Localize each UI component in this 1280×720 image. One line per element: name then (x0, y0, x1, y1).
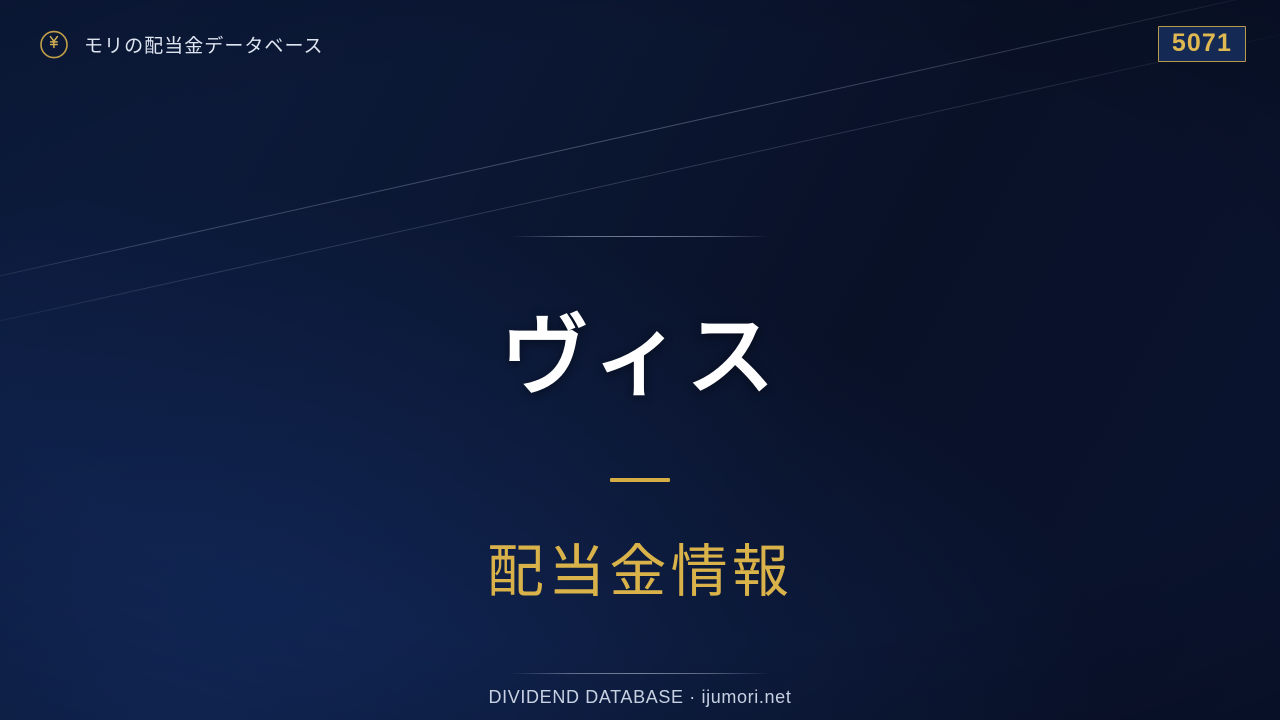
page-header: モリの配当金データベース 5071 (0, 0, 1280, 88)
company-name-title: ヴィス (501, 310, 780, 403)
footer-attribution: DIVIDEND DATABASE · ijumori.net (489, 687, 792, 707)
divider-top (509, 236, 771, 237)
title-block: ヴィス 配当金情報 (0, 236, 1280, 674)
brand-name-label: モリの配当金データベース (84, 31, 324, 58)
gold-accent-bar (610, 478, 670, 482)
yen-circle-icon (38, 28, 70, 60)
title-card: モリの配当金データベース 5071 ヴィス 配当金情報 DIVIDEND DAT… (0, 0, 1280, 720)
brand-block[interactable]: モリの配当金データベース (38, 28, 324, 60)
page-footer: DIVIDEND DATABASE · ijumori.net (0, 687, 1280, 708)
ticker-badge[interactable]: 5071 (1158, 26, 1246, 62)
document-type-subtitle: 配当金情報 (487, 541, 793, 605)
divider-bottom (509, 673, 771, 674)
